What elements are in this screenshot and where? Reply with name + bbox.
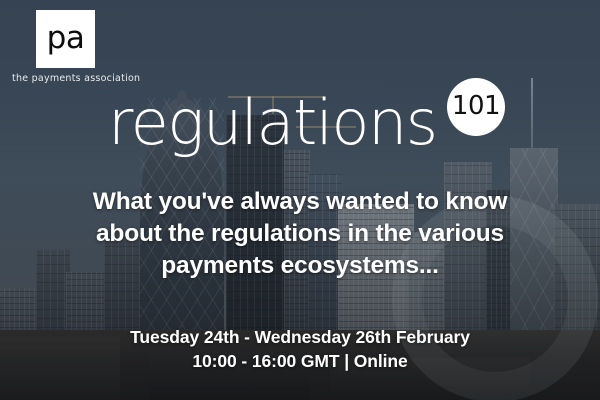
logo-mark-text: pa xyxy=(47,23,85,54)
regulations-101-wordmark: regulations 101 xyxy=(108,92,508,164)
payments-association-logo: pa the payments association xyxy=(12,10,212,84)
headline-line-2: about the regulations in the various xyxy=(40,218,560,250)
event-dates: Tuesday 24th - Wednesday 26th February xyxy=(40,325,560,349)
event-promo-banner: pa the payments association regulations … xyxy=(0,0,600,400)
badge-101-text: 101 xyxy=(452,91,500,121)
event-details: Tuesday 24th - Wednesday 26th February 1… xyxy=(40,325,560,373)
headline-line-3: payments ecosystems... xyxy=(40,250,560,282)
event-time-location: 10:00 - 16:00 GMT | Online xyxy=(40,349,560,373)
headline: What you've always wanted to know about … xyxy=(40,186,560,282)
badge-101: 101 xyxy=(447,78,505,136)
logo-mark-square: pa xyxy=(36,10,95,68)
logo-tagline: the payments association xyxy=(12,73,212,84)
headline-line-1: What you've always wanted to know xyxy=(40,186,560,218)
